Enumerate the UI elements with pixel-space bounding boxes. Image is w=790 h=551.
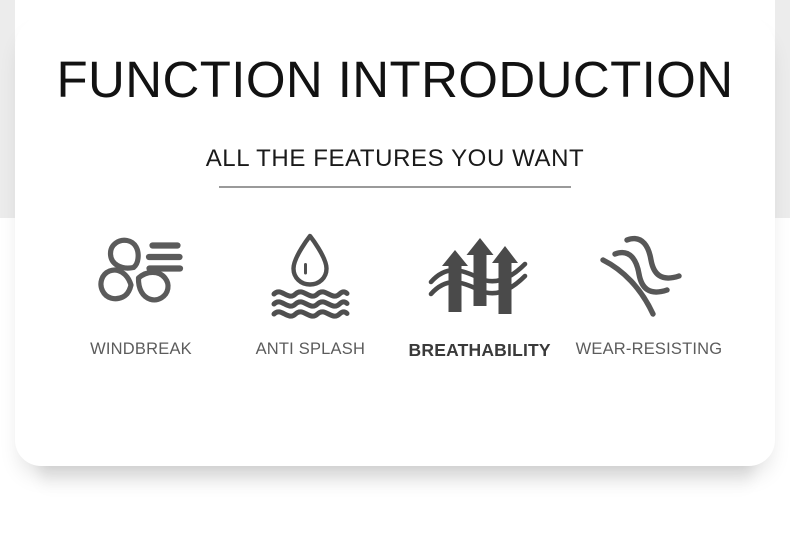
fan-wind-icon	[93, 222, 189, 326]
feature-item-wear-resisting: WEAR-RESISTING	[565, 222, 733, 359]
feature-item-breathability: BREATHABILITY	[396, 222, 564, 361]
water-droplet-waves-icon	[262, 222, 358, 326]
page-subtitle: ALL THE FEATURES YOU WANT	[206, 144, 585, 174]
right-gutter	[775, 0, 790, 218]
page-root: FUNCTION INTRODUCTION ALL THE FEATURES Y…	[0, 0, 790, 551]
feature-list: WINDBREAK	[57, 222, 733, 361]
feature-label-windbreak: WINDBREAK	[90, 340, 192, 359]
feature-label-anti-splash: ANTI SPLASH	[256, 340, 365, 359]
feature-item-windbreak: WINDBREAK	[57, 222, 225, 359]
hero-card: FUNCTION INTRODUCTION ALL THE FEATURES Y…	[15, 14, 775, 466]
left-gutter	[0, 0, 15, 218]
subtitle-block: ALL THE FEATURES YOU WANT	[15, 144, 775, 188]
abrasion-curves-icon	[597, 222, 701, 326]
subtitle-underline	[219, 186, 571, 188]
feature-item-anti-splash: ANTI SPLASH	[226, 222, 394, 359]
feature-label-breathability: BREATHABILITY	[409, 340, 551, 361]
page-title: FUNCTION INTRODUCTION	[15, 52, 775, 108]
up-arrows-airflow-icon	[425, 222, 535, 326]
feature-label-wear-resisting: WEAR-RESISTING	[576, 340, 723, 359]
